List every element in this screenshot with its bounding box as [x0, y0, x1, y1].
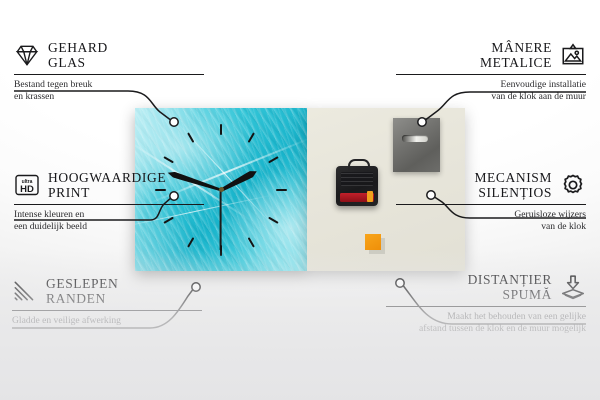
- callout-mecanism-silentios: MECANISM SILENȚIOS Geruisloze wijzers va…: [396, 170, 586, 233]
- callout-desc-line2: afstand tussen de klok en de muur mogeli…: [386, 323, 586, 335]
- callout-title-line1: MÂNERE: [480, 40, 552, 55]
- callout-title-line2: SILENȚIOS: [474, 185, 552, 200]
- callout-title-line1: MECANISM: [474, 170, 552, 185]
- foam-spacer: [365, 234, 381, 250]
- callout-desc-line1: Geruisloze wijzers: [396, 209, 586, 221]
- callout-title-line2: PRINT: [48, 185, 166, 200]
- callout-title-line2: METALICE: [480, 55, 552, 70]
- callout-geslepen-randen: GESLEPEN RANDEN Gladde en veilige afwerk…: [12, 276, 202, 327]
- callout-title-line1: GEHARD: [48, 40, 108, 55]
- callout-title-line1: GESLEPEN: [46, 276, 118, 291]
- callout-title-line2: RANDEN: [46, 291, 118, 306]
- callout-desc-line1: Intense kleuren en: [14, 209, 204, 221]
- gear-icon: [560, 172, 586, 198]
- callout-gehard-glas: GEHARD GLAS Bestand tegen breuk en krass…: [14, 40, 204, 103]
- mechanism-hanging-loop: [348, 159, 370, 170]
- callout-desc-line2: en krassen: [14, 91, 204, 103]
- battery-label: [340, 193, 374, 202]
- picture-frame-icon: [560, 42, 586, 68]
- svg-text:HD: HD: [20, 184, 34, 195]
- callout-desc-line1: Maakt het behouden van een gelijke: [386, 311, 586, 323]
- callout-rule: [396, 74, 586, 75]
- callout-manere-metalice: MÂNERE METALICE Eenvoudige installatie v…: [396, 40, 586, 103]
- clock-tick: [220, 124, 222, 190]
- press-down-spacer-icon: [560, 274, 586, 300]
- callout-rule: [14, 74, 204, 75]
- callout-desc-line2: van de klok aan de muur: [396, 91, 586, 103]
- clock-mechanism: [336, 166, 378, 206]
- metal-hanger-plate: [393, 118, 440, 172]
- callout-distantier-spuma: DISTANȚIER SPUMĂ Maakt het behouden van …: [386, 272, 586, 335]
- ultra-hd-icon: ultra HD: [14, 172, 40, 198]
- diamond-icon: [14, 42, 40, 68]
- callout-hoogwaardige-print: ultra HD HOOGWAARDIGE PRINT Intense kleu…: [14, 170, 204, 233]
- callout-rule: [14, 204, 204, 205]
- clock-tick: [220, 190, 222, 256]
- mechanism-body: [341, 172, 373, 186]
- callout-title-line2: GLAS: [48, 55, 108, 70]
- callout-desc-line1: Bestand tegen breuk: [14, 79, 204, 91]
- infographic-canvas: GEHARD GLAS Bestand tegen breuk en krass…: [0, 0, 600, 400]
- callout-desc-line1: Eenvoudige installatie: [396, 79, 586, 91]
- clock-tick: [221, 189, 287, 191]
- callout-title-line1: DISTANȚIER: [468, 272, 552, 287]
- callout-desc-line2: van de klok: [396, 221, 586, 233]
- callout-rule: [386, 306, 586, 307]
- hanger-keyhole-slot: [402, 135, 428, 142]
- callout-title-line2: SPUMĂ: [468, 287, 552, 302]
- callout-title-line1: HOOGWAARDIGE: [48, 170, 166, 185]
- callout-rule: [12, 310, 202, 311]
- callout-desc-line2: een duidelijk beeld: [14, 221, 204, 233]
- callout-desc-line1: Gladde en veilige afwerking: [12, 315, 202, 327]
- callout-rule: [396, 204, 586, 205]
- beveled-edge-icon: [12, 278, 38, 304]
